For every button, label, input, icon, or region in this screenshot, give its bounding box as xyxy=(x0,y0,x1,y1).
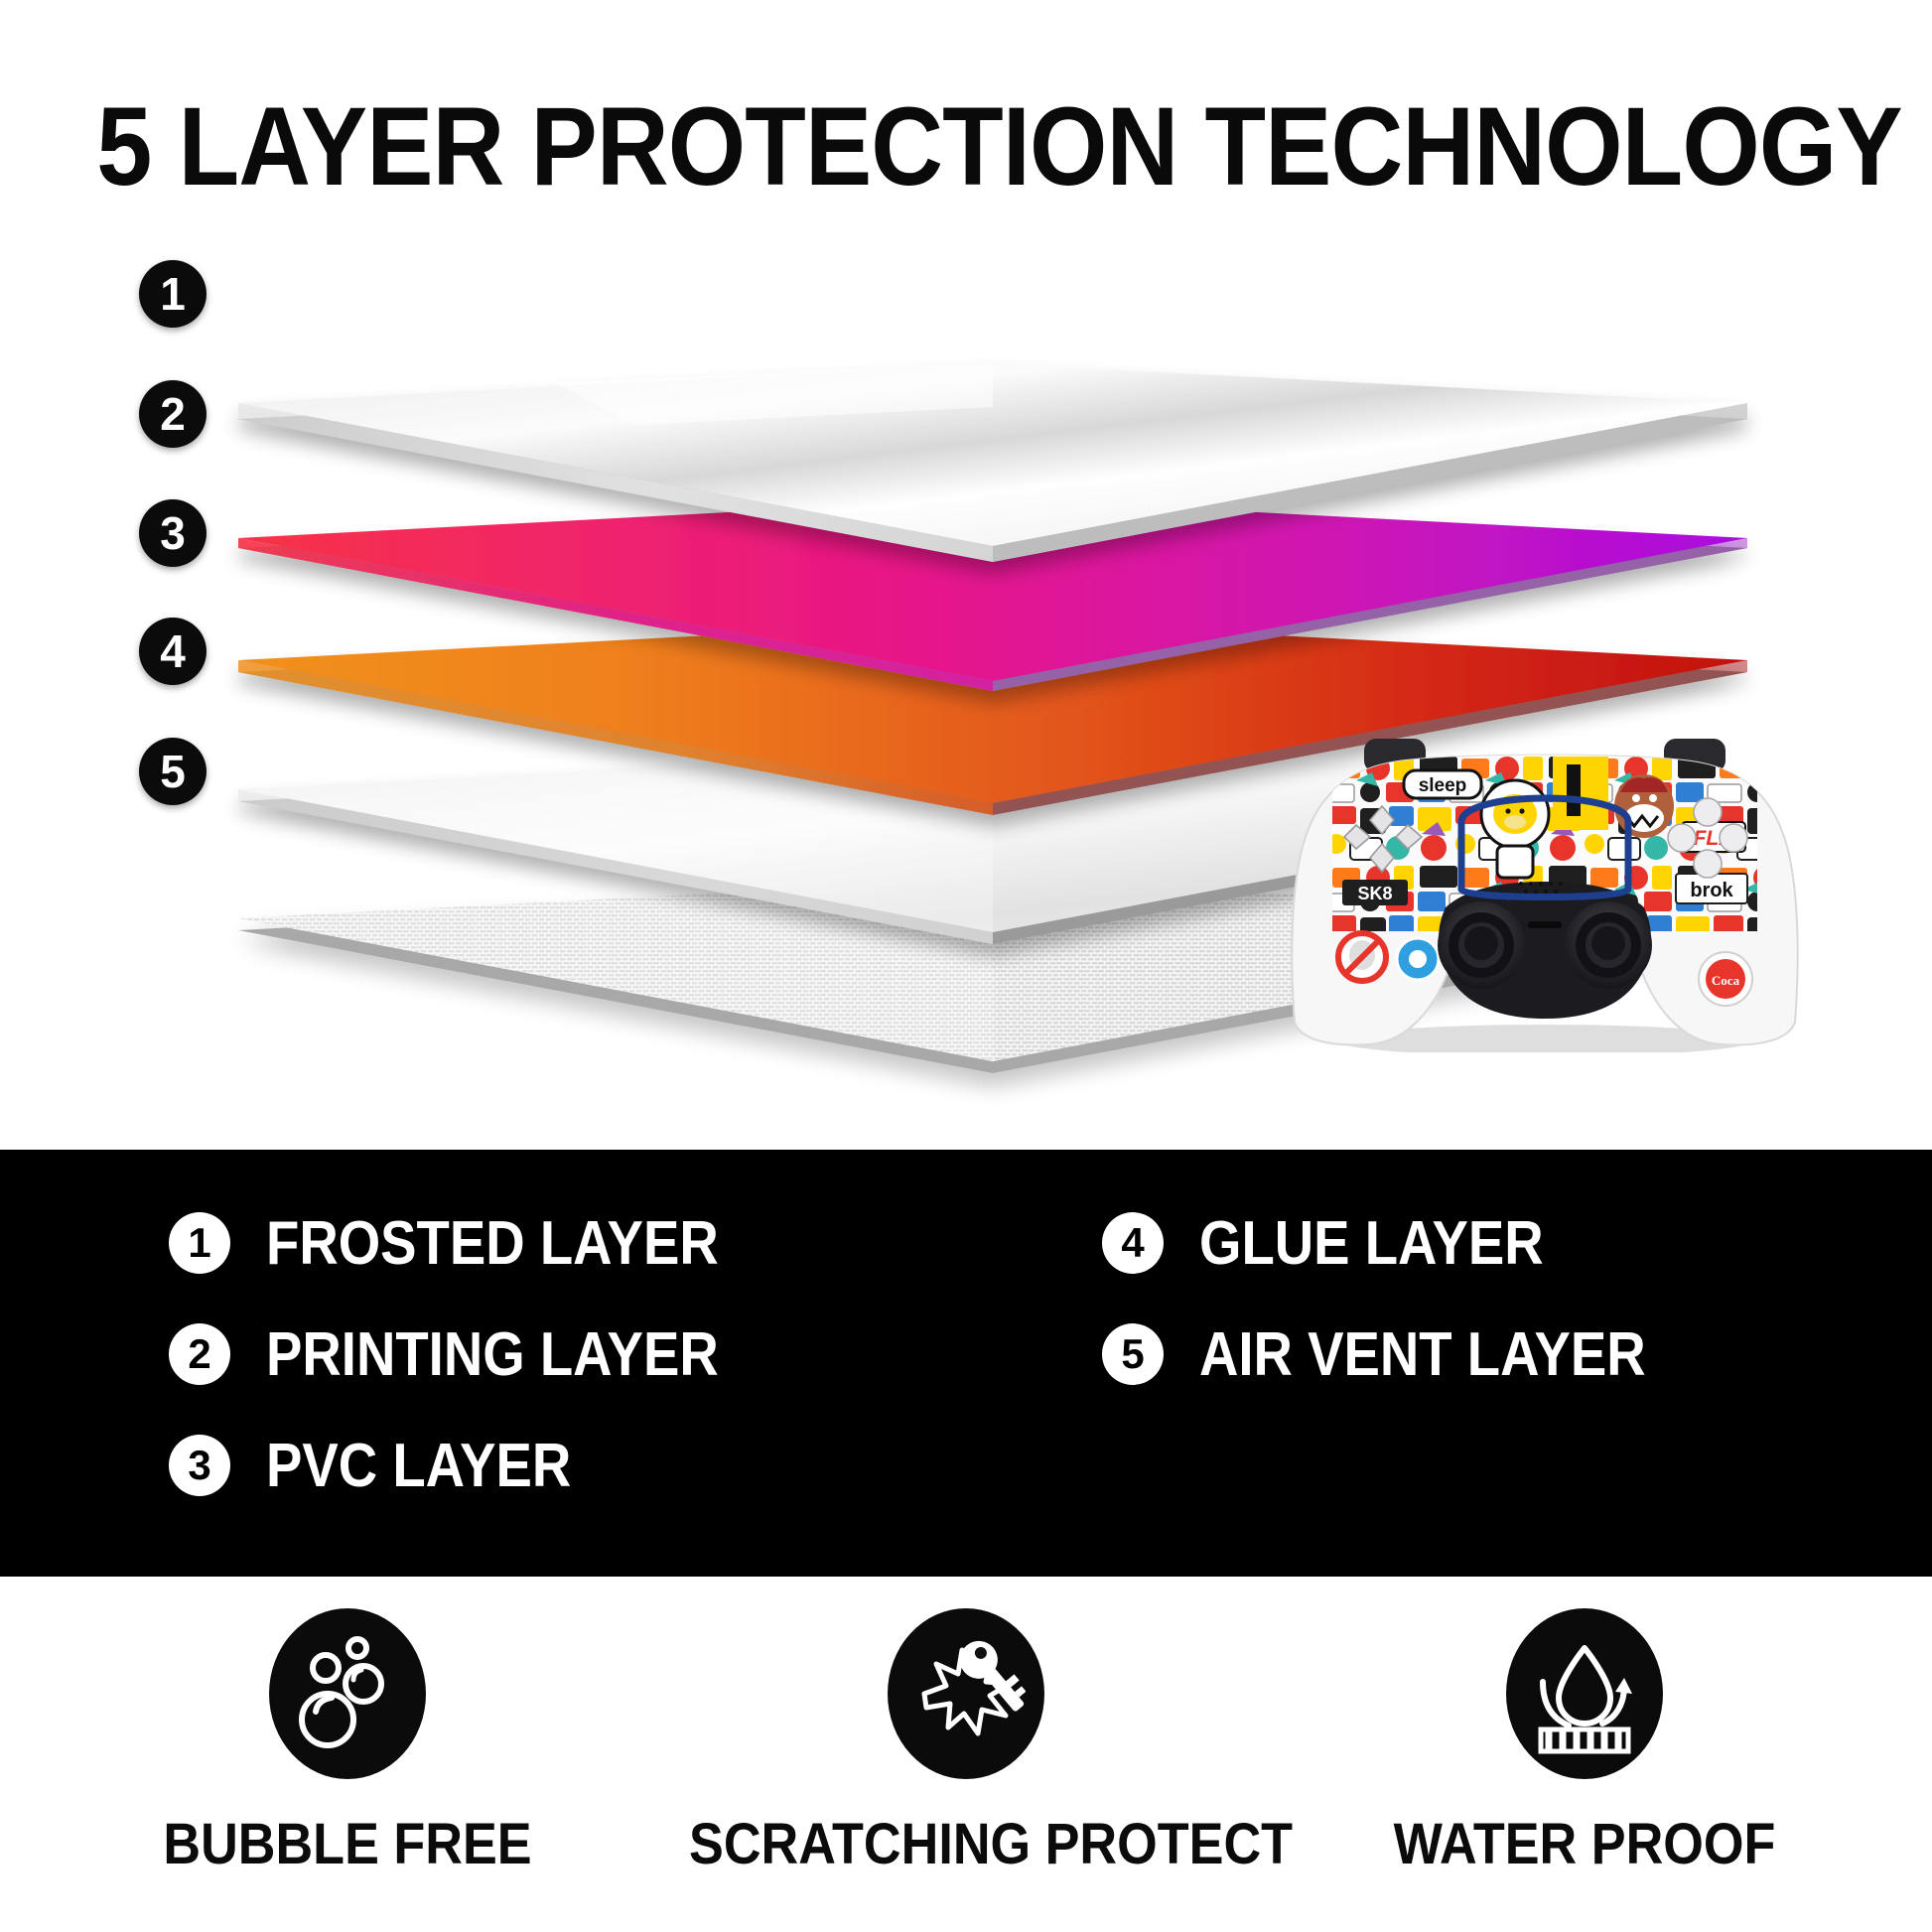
feature-water-proof: WATER PROOF xyxy=(1277,1608,1892,1877)
svg-text:sleep: sleep xyxy=(1419,775,1467,796)
bubbles-icon xyxy=(269,1608,426,1779)
legend-number-1: 1 xyxy=(169,1212,230,1274)
ps5-dualsense-controller: sleep xyxy=(1287,695,1803,1052)
key-impact-icon xyxy=(888,1608,1044,1779)
feature-label-scratching-protect: SCRATCHING PROTECT xyxy=(689,1811,1243,1877)
legend-label-4: GLUE LAYER xyxy=(1199,1208,1544,1279)
svg-text:SK8: SK8 xyxy=(1357,884,1392,903)
legend-band: 1 FROSTED LAYER 2 PRINTING LAYER 3 PVC L… xyxy=(0,1150,1932,1577)
callout-number-4[interactable]: 4 xyxy=(139,618,207,685)
infographic-page: 5 LAYER PROTECTION TECHNOLOGY xyxy=(0,0,1932,1932)
legend-label-1: FROSTED LAYER xyxy=(266,1208,719,1279)
svg-text:brok: brok xyxy=(1690,880,1733,901)
callout-number-1[interactable]: 1 xyxy=(139,260,207,328)
legend-item-pvc-layer[interactable]: 3 PVC LAYER xyxy=(169,1410,780,1521)
legend-number-3: 3 xyxy=(169,1435,230,1496)
legend-label-2: PRINTING LAYER xyxy=(266,1319,719,1390)
callout-number-3[interactable]: 3 xyxy=(139,499,207,567)
legend-column-right: 4 GLUE LAYER 5 AIR VENT LAYER xyxy=(1102,1150,1707,1410)
feature-label-bubble-free: BUBBLE FREE xyxy=(70,1811,624,1877)
legend-number-5: 5 xyxy=(1102,1323,1164,1385)
water-drop-repel-icon xyxy=(1506,1608,1663,1779)
feature-label-water-proof: WATER PROOF xyxy=(1308,1811,1862,1877)
legend-number-4: 4 xyxy=(1102,1212,1164,1274)
legend-item-frosted-layer[interactable]: 1 FROSTED LAYER xyxy=(169,1187,780,1299)
svg-text:Coca: Coca xyxy=(1712,973,1740,988)
legend-column-left: 1 FROSTED LAYER 2 PRINTING LAYER 3 PVC L… xyxy=(169,1150,780,1521)
legend-number-2: 2 xyxy=(169,1323,230,1385)
legend-label-5: AIR VENT LAYER xyxy=(1199,1319,1646,1390)
callout-number-5[interactable]: 5 xyxy=(139,738,207,805)
page-title: 5 LAYER PROTECTION TECHNOLOGY xyxy=(96,91,1835,203)
controller-svg: sleep xyxy=(1287,695,1803,1052)
legend-item-air-vent-layer[interactable]: 5 AIR VENT LAYER xyxy=(1102,1299,1707,1410)
callout-number-2[interactable]: 2 xyxy=(139,380,207,448)
features-row: BUBBLE FREE SCRATCHING PR xyxy=(0,1608,1932,1932)
legend-item-printing-layer[interactable]: 2 PRINTING LAYER xyxy=(169,1299,780,1410)
feature-bubble-free: BUBBLE FREE xyxy=(40,1608,655,1877)
left-analog-stick[interactable] xyxy=(1438,901,1525,989)
feature-scratching-protect: SCRATCHING PROTECT xyxy=(658,1608,1274,1877)
create-share-slot xyxy=(1528,921,1562,928)
right-analog-stick[interactable] xyxy=(1565,901,1652,989)
legend-item-glue-layer[interactable]: 4 GLUE LAYER xyxy=(1102,1187,1707,1299)
legend-label-3: PVC LAYER xyxy=(266,1431,571,1501)
